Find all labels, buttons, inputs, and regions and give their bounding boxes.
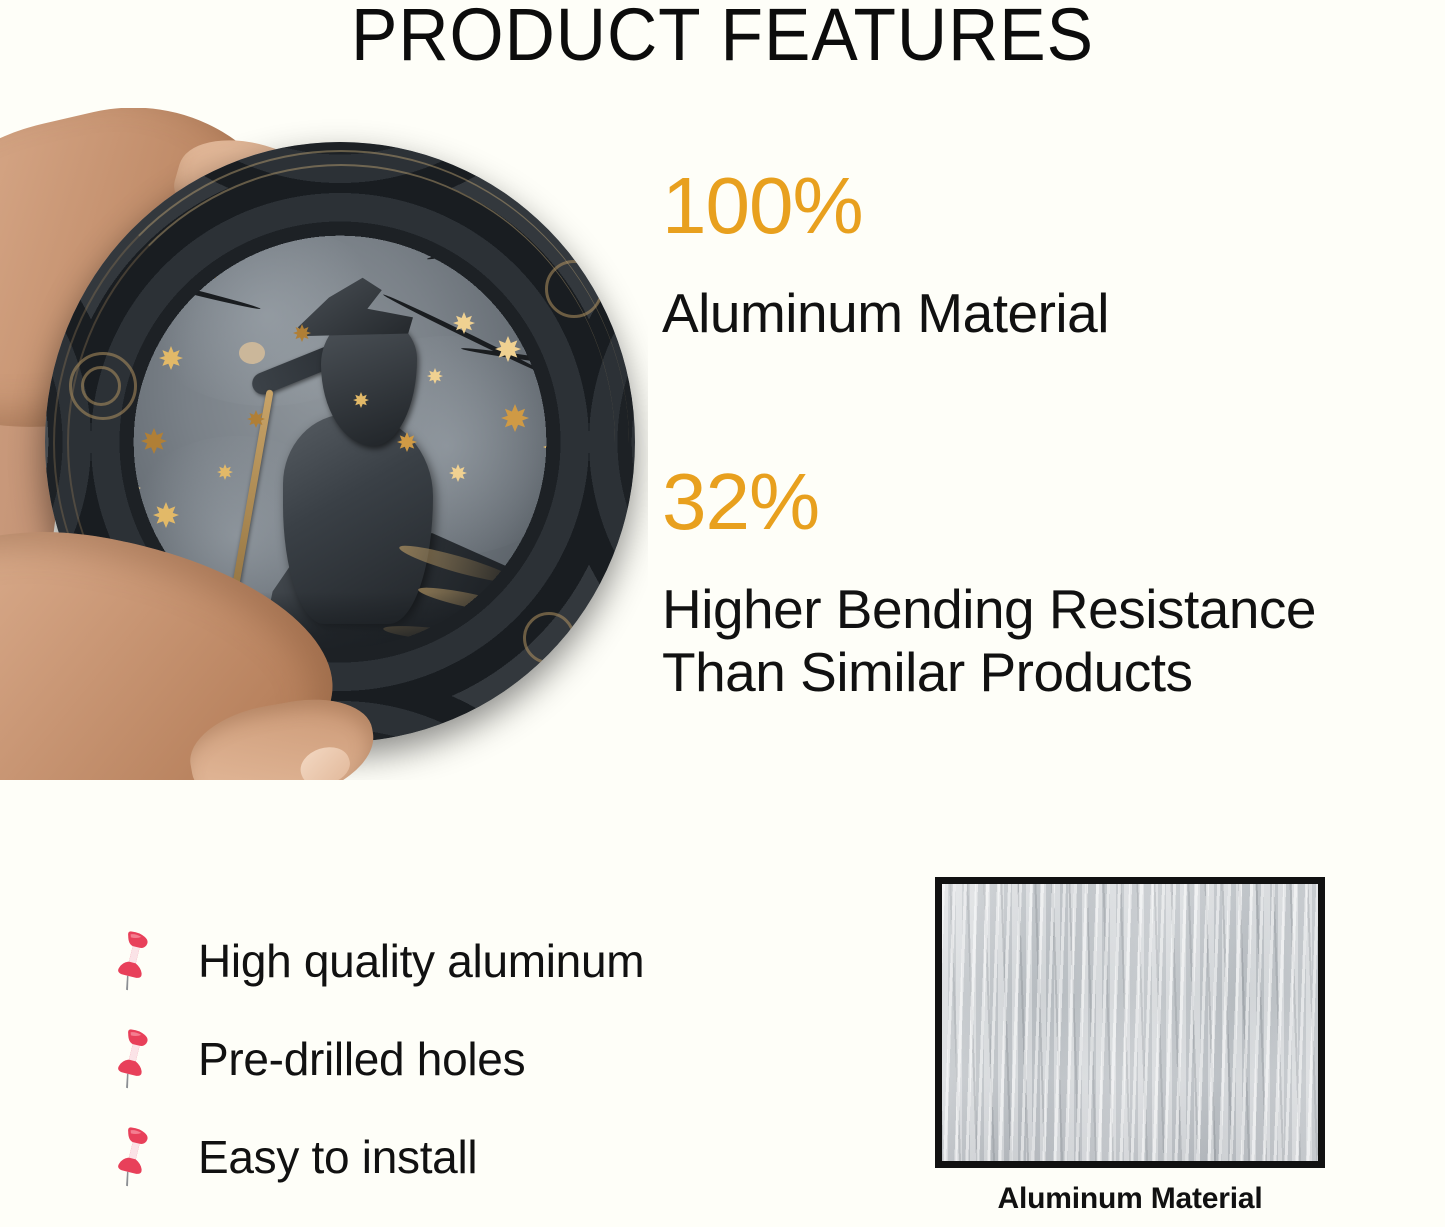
pushpin-icon: [112, 1126, 158, 1188]
stat-label-line-1: Higher Bending Resistance: [662, 578, 1316, 641]
material-swatch: Aluminum Material: [935, 877, 1325, 1216]
stat-block-aluminum: 100% Aluminum Material: [662, 166, 1109, 345]
stat-label-aluminum-material: Aluminum Material: [662, 282, 1109, 345]
pushpin-icon: [112, 1028, 158, 1090]
stat-block-bending-resistance: 32% Higher Bending Resistance Than Simil…: [662, 462, 1316, 703]
page-title: PRODUCT FEATURES: [43, 0, 1401, 77]
stat-value-32: 32%: [662, 462, 1316, 542]
list-item-label: Pre-drilled holes: [198, 1032, 525, 1086]
list-item: Pre-drilled holes: [112, 1010, 644, 1108]
texture-sheen: [942, 884, 1318, 1161]
list-item: Easy to install: [112, 1108, 644, 1206]
material-swatch-caption: Aluminum Material: [935, 1182, 1325, 1216]
list-item: High quality aluminum: [112, 912, 644, 1010]
stat-value-100: 100%: [662, 166, 1109, 246]
aluminum-texture-image: [935, 877, 1325, 1168]
stat-label-bending-resistance: Higher Bending Resistance Than Similar P…: [662, 578, 1316, 703]
stat-label-line-2: Than Similar Products: [662, 641, 1316, 704]
product-image: [0, 108, 648, 780]
feature-bullet-list: High quality aluminum Pre-drilled holes: [112, 912, 644, 1206]
list-item-label: Easy to install: [198, 1130, 477, 1184]
list-item-label: High quality aluminum: [198, 934, 644, 988]
pushpin-icon: [112, 930, 158, 992]
